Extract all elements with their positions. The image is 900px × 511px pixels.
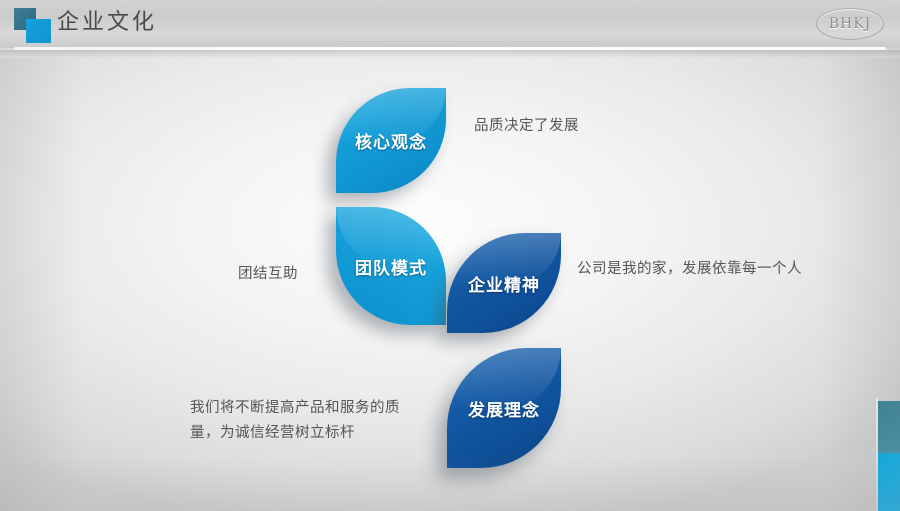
petal-label-dev: 发展理念 xyxy=(468,396,540,421)
logo-text: BHKJ xyxy=(829,16,872,32)
accent-bar-teal xyxy=(878,401,900,453)
page-title: 企业文化 xyxy=(57,9,157,37)
petal-enterprise-spirit[interactable]: 企业精神 xyxy=(447,233,561,333)
company-logo: BHKJ xyxy=(816,8,884,40)
petal-core-concept[interactable]: 核心观念 xyxy=(336,88,446,193)
petal-development-philosophy[interactable]: 发展理念 xyxy=(447,348,561,468)
header-shadow xyxy=(0,50,900,58)
petal-team-model[interactable]: 团队模式 xyxy=(336,207,446,325)
petal-label-core: 核心观念 xyxy=(355,128,427,153)
caption-home: 公司是我的家，发展依靠每一个人 xyxy=(577,257,802,282)
header-square-blue-icon xyxy=(26,19,51,43)
accent-bar-cyan xyxy=(878,453,900,511)
caption-quality: 品质决定了发展 xyxy=(474,114,579,139)
petal-label-team: 团队模式 xyxy=(355,254,427,279)
caption-development: 我们将不断提高产品和服务的质 量，为诚信经营树立标杆 xyxy=(190,396,400,446)
petal-label-spirit: 企业精神 xyxy=(468,271,540,296)
slide-canvas: 企业文化 BHKJ 核心观念 团队模式 企业精神 发展理念 品质决定了发展 团结… xyxy=(0,0,900,511)
caption-unity: 团结互助 xyxy=(238,262,298,287)
